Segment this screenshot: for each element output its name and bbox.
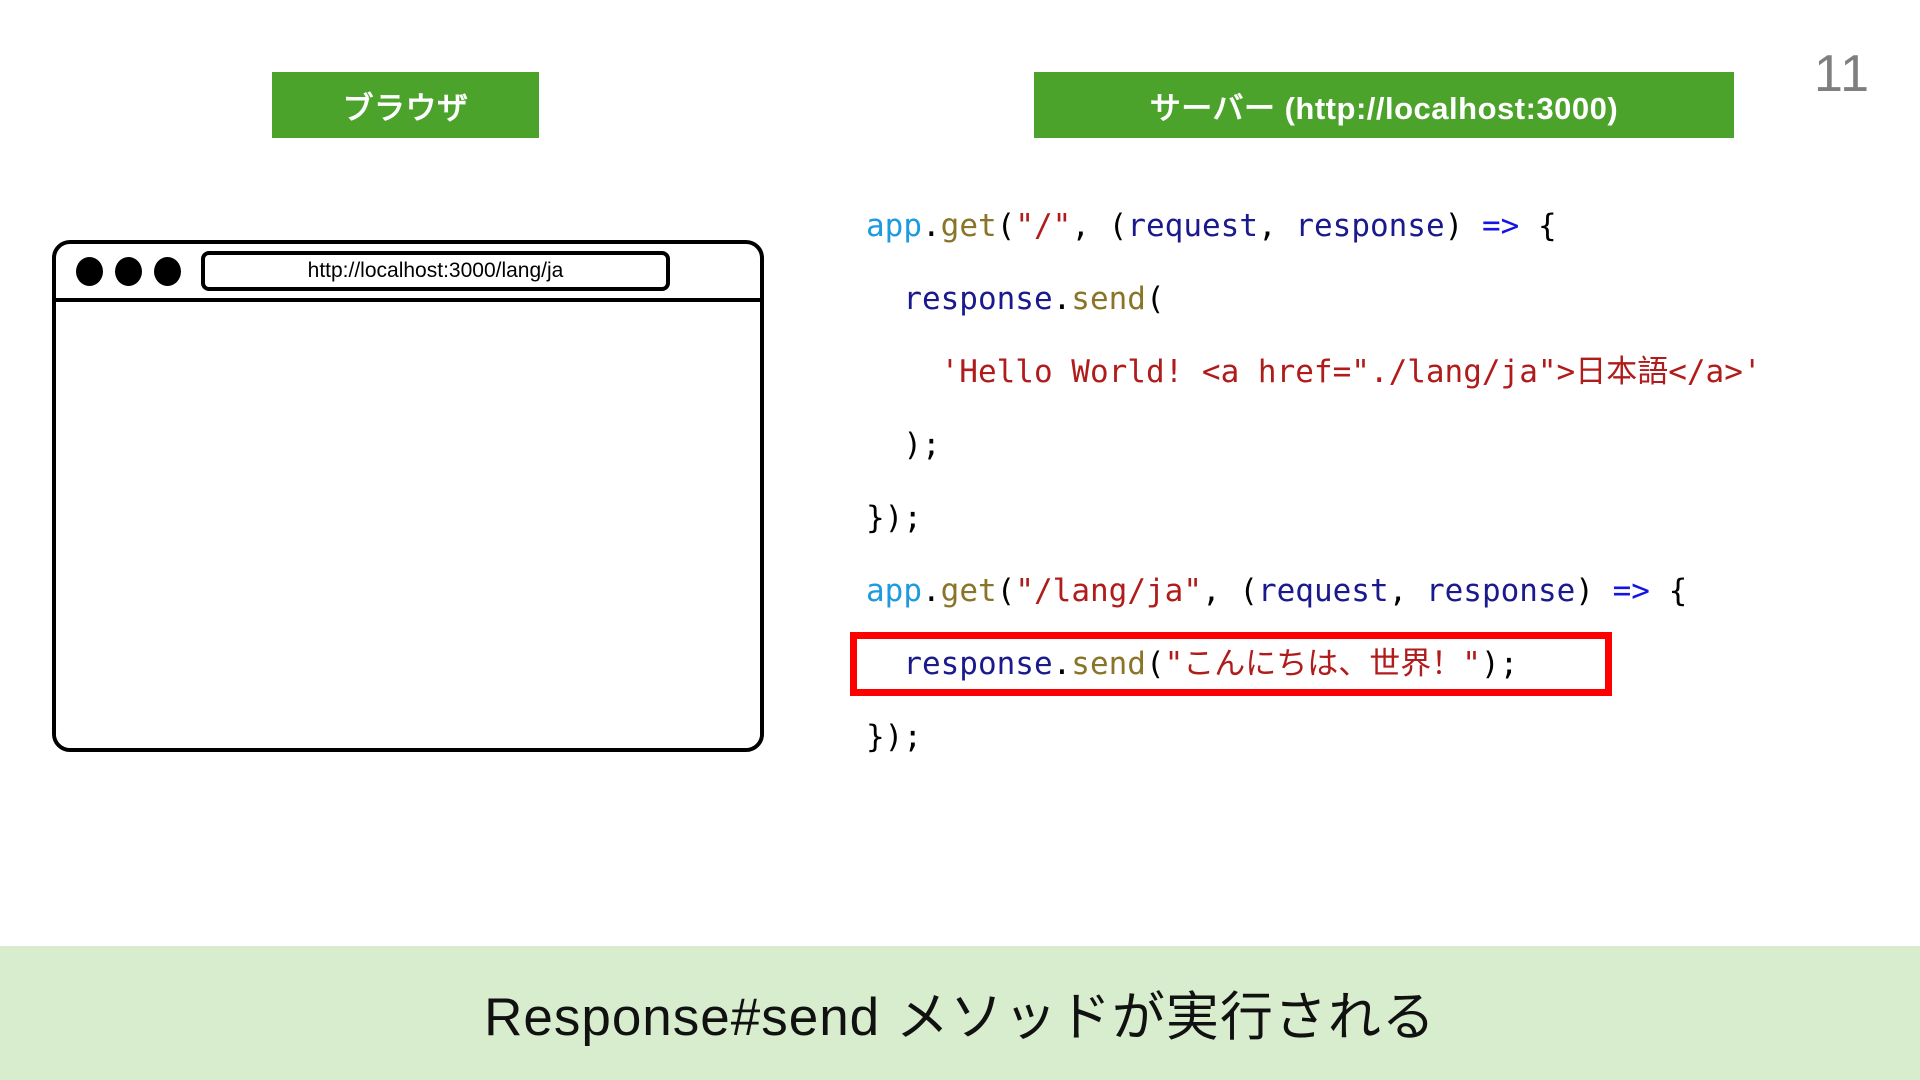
code-token-punct: . <box>922 573 941 609</box>
code-block: app.get("/", (request, response) => {res… <box>866 190 1866 774</box>
banner-browser: ブラウザ <box>272 72 539 138</box>
browser-viewport <box>56 302 760 748</box>
code-line: app.get("/lang/ja", (request, response) … <box>866 555 1866 628</box>
banner-server: サーバー (http://localhost:3000) <box>1034 72 1734 138</box>
code-token-var: response <box>1426 573 1575 609</box>
code-token-punct: . <box>1053 281 1072 317</box>
code-line-highlighted: response.send("こんにちは、世界！"); <box>866 628 1866 701</box>
banner-server-label: サーバー (http://localhost:3000) <box>1150 83 1618 128</box>
code-token-arrow: => <box>1613 573 1650 609</box>
code-token-str: "/lang/ja" <box>1015 573 1202 609</box>
code-token-fn: get <box>941 208 997 244</box>
code-token-var: response <box>903 646 1052 682</box>
code-token-punct: ); <box>903 427 940 463</box>
traffic-light-dots <box>76 257 181 286</box>
code-token-punct: ( <box>1109 208 1128 244</box>
code-token-str: 'Hello World! <a href="./lang/ja">日本語</a… <box>941 354 1762 390</box>
code-token-punct: , <box>1389 573 1426 609</box>
code-token-punct: ) <box>1445 208 1482 244</box>
code-line: 'Hello World! <a href="./lang/ja">日本語</a… <box>866 336 1866 409</box>
code-line: ); <box>866 409 1866 482</box>
code-token-arrow: => <box>1482 208 1519 244</box>
code-line: app.get("/", (request, response) => { <box>866 190 1866 263</box>
code-line: response.send( <box>866 263 1866 336</box>
code-token-var: request <box>1258 573 1389 609</box>
minimize-dot-icon[interactable] <box>115 257 142 286</box>
code-token-punct: ( <box>1239 573 1258 609</box>
code-token-obj: app <box>866 208 922 244</box>
browser-window: http://localhost:3000/lang/ja <box>52 240 764 752</box>
address-bar-url: http://localhost:3000/lang/ja <box>308 259 564 283</box>
browser-chrome: http://localhost:3000/lang/ja <box>56 244 760 302</box>
code-token-punct: . <box>922 208 941 244</box>
code-token-var: response <box>1295 208 1444 244</box>
code-token-punct: ) <box>1575 573 1612 609</box>
caption-bar: Response#send メソッドが実行される <box>0 946 1920 1080</box>
code-token-punct: }); <box>866 719 922 755</box>
code-token-fn: send <box>1071 646 1146 682</box>
code-line: }); <box>866 701 1866 774</box>
code-token-punct: , <box>1258 208 1295 244</box>
code-token-str: "こんにちは、世界！" <box>1165 646 1481 682</box>
code-token-punct: , <box>1202 573 1239 609</box>
code-token-fn: send <box>1071 281 1146 317</box>
code-token-punct: . <box>1053 646 1072 682</box>
code-token-str: "/" <box>1015 208 1071 244</box>
caption-text: Response#send メソッドが実行される <box>484 975 1436 1051</box>
code-token-punct: }); <box>866 500 922 536</box>
close-dot-icon[interactable] <box>76 257 103 286</box>
code-token-punct: { <box>1650 573 1687 609</box>
code-token-punct: ); <box>1481 646 1518 682</box>
code-token-punct: ( <box>1146 646 1165 682</box>
code-token-fn: get <box>941 573 997 609</box>
code-token-var: request <box>1127 208 1258 244</box>
banner-browser-label: ブラウザ <box>343 83 469 128</box>
code-token-punct: ( <box>997 573 1016 609</box>
address-bar[interactable]: http://localhost:3000/lang/ja <box>201 251 670 291</box>
page-number: 11 <box>1814 48 1870 100</box>
code-token-punct: { <box>1519 208 1556 244</box>
code-token-obj: app <box>866 573 922 609</box>
code-token-punct: , <box>1071 208 1108 244</box>
code-token-var: response <box>903 281 1052 317</box>
code-line: }); <box>866 482 1866 555</box>
code-token-punct: ( <box>997 208 1016 244</box>
maximize-dot-icon[interactable] <box>154 257 181 286</box>
code-token-punct: ( <box>1146 281 1165 317</box>
